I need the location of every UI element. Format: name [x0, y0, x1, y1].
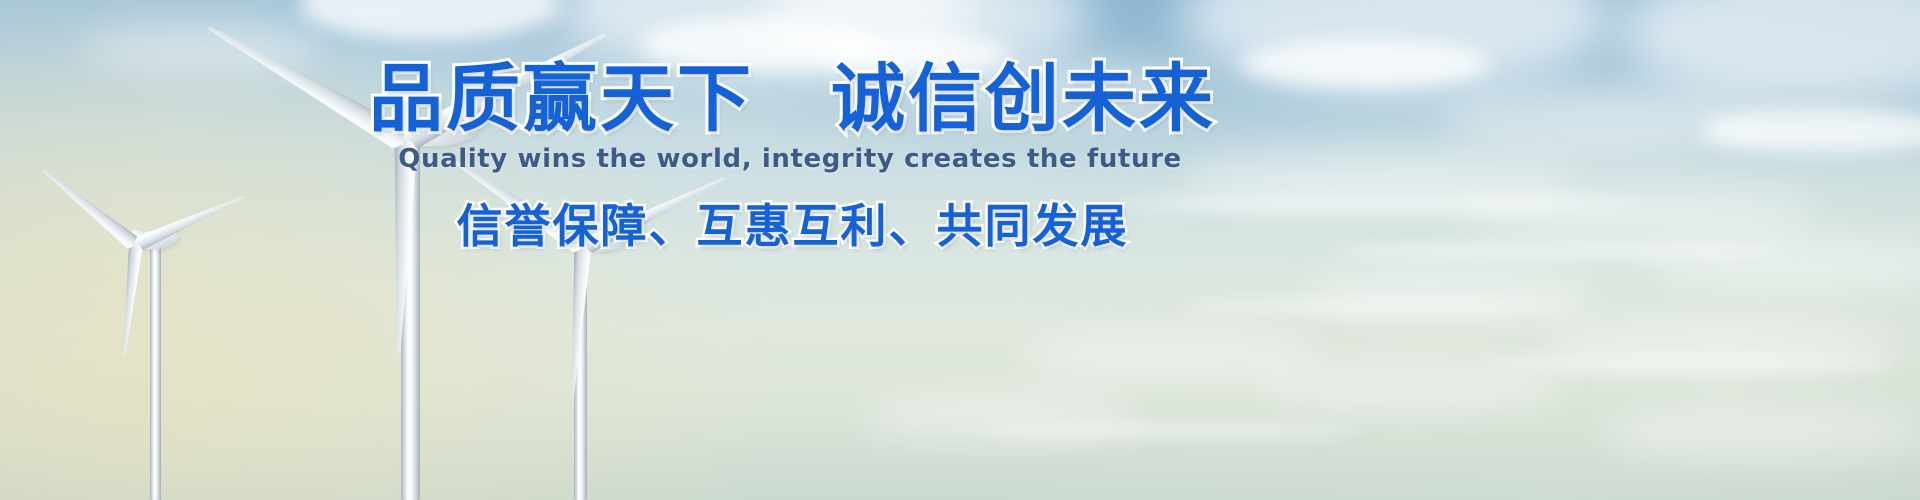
vignette-overlay	[0, 0, 1920, 500]
hero-banner: 品质赢天下 诚信创未来 Quality wins the world, inte…	[0, 0, 1920, 500]
